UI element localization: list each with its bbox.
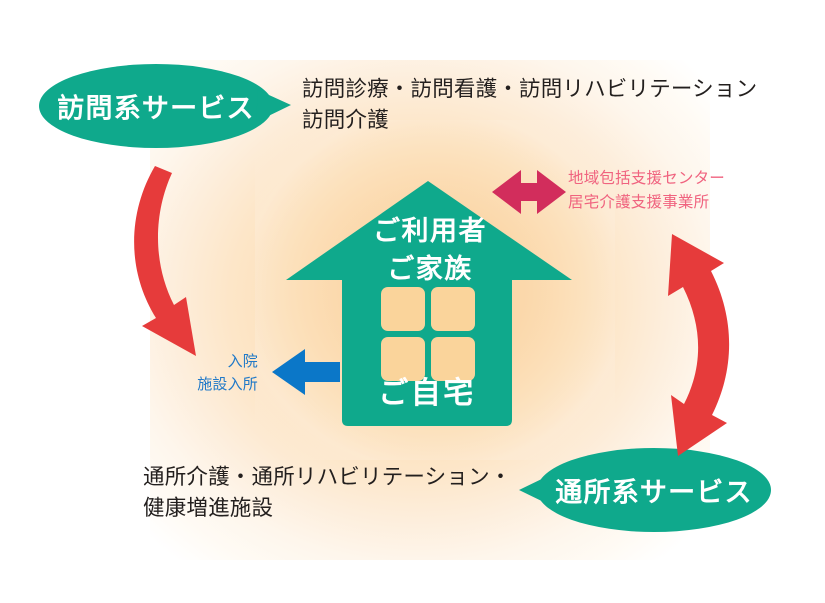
left-curved-arrow-icon [134,166,196,356]
house-window [381,337,425,381]
note-visiting-services: 訪問診療・訪問看護・訪問リハビリテーション 訪問介護 [302,74,757,135]
pill-commuting-services-label: 通所系サービス [537,471,771,510]
diagram-canvas: 訪問系サービス 通所系サービス ご利用者 ご家族 ご自宅 訪問診療・訪問看護・訪… [0,0,825,603]
note-hospitalization: 入院 施設入所 [168,351,258,396]
right-curved-arrow-icon [668,234,729,456]
house-window [431,287,475,331]
roof-double-arrow-icon [492,170,566,214]
house-window [381,287,425,331]
pill-visiting-services[interactable]: 訪問系サービス [39,64,273,148]
note-day-services: 通所介護・通所リハビリテーション・ 健康増進施設 [143,462,511,523]
house-window [431,337,475,381]
pill-commuting-services[interactable]: 通所系サービス [537,448,771,532]
house-shape [286,181,572,426]
pill-visiting-services-label: 訪問系サービス [39,87,273,126]
hospital-arrow-icon [272,349,340,395]
note-support-center: 地域包括支援センター 居宅介護支援事業所 [568,167,725,215]
